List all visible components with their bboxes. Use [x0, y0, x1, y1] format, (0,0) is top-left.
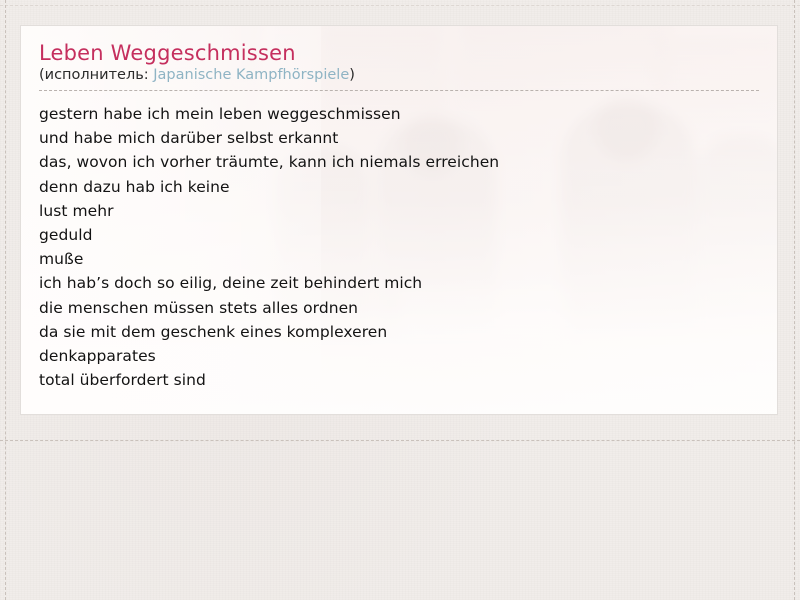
song-title: Leben Weggeschmissen [39, 40, 759, 66]
lyric-line: da sie mit dem geschenk eines komplexere… [39, 320, 759, 344]
lyric-line: und habe mich darüber selbst erkannt [39, 126, 759, 150]
lyric-line: ich hab’s doch so eilig, deine zeit behi… [39, 271, 759, 295]
artist-link[interactable]: Japanische Kampfhörspiele [153, 67, 349, 83]
artist-label-prefix: (исполнитель: [39, 67, 153, 83]
guide-line-left [5, 0, 6, 600]
lyric-line: die menschen müssen stets alles ordnen [39, 296, 759, 320]
artist-label-suffix: ) [349, 67, 355, 83]
guide-line-right [794, 0, 795, 600]
lyric-line: denn dazu hab ich keine [39, 175, 759, 199]
lyric-line: gestern habe ich mein leben weggeschmiss… [39, 102, 759, 126]
lyrics-body: gestern habe ich mein leben weggeschmiss… [39, 91, 759, 392]
lyrics-card: Leben Weggeschmissen (исполнитель: Japan… [20, 25, 778, 415]
lyric-line: total überfordert sind [39, 368, 759, 392]
lyric-line: lust mehr [39, 199, 759, 223]
lyric-line: muße [39, 247, 759, 271]
lyric-line: denkapparates [39, 344, 759, 368]
guide-line-bottom [0, 440, 800, 441]
artist-line: (исполнитель: Japanische Kampfhörspiele) [39, 66, 759, 91]
card-content: Leben Weggeschmissen (исполнитель: Japan… [21, 26, 777, 392]
guide-line-top [0, 5, 800, 6]
lyric-line: geduld [39, 223, 759, 247]
lyric-line: das, wovon ich vorher träumte, kann ich … [39, 150, 759, 174]
